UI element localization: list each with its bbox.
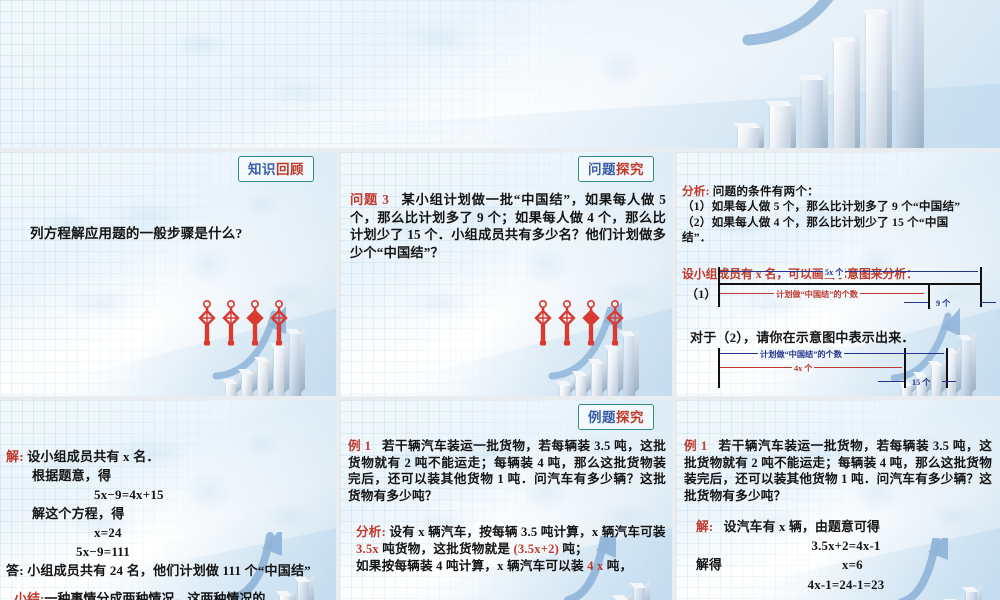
slide2-wedge <box>340 254 672 396</box>
badge-text-red: 回顾 <box>276 162 304 177</box>
solution-line-solve: 解这个方程，得 <box>6 505 332 524</box>
summary-text: 一种事情分成两种情况，这两种情况的 <box>44 591 265 600</box>
answer-text: 小组成员共有 24 名，他们计划做 111 个“中国结” <box>27 563 311 578</box>
solution-line-basis: 根据题意，得 <box>6 467 332 486</box>
problem-text: 某小组计划做一批“中国结”，如果每人做 5 个，那么比计划多了 9 个；如果每人… <box>350 192 666 260</box>
example-analysis: 分析: 设有 x 辆汽车，按每辆 3.5 吨计算，x 辆汽车可装 3.5x 吨货… <box>356 524 668 575</box>
span-short-line <box>878 381 904 382</box>
analysis-block: 分析: 问题的条件有两个： （1）如果每人做 5 个，那么比计划多了 9 个“中… <box>682 184 994 246</box>
solution-lead: 解: <box>696 520 713 534</box>
analysis-highlight-2: (3.5x+2) <box>513 542 559 556</box>
slide-analysis[interactable]: 分析: 问题的条件有两个： （1）如果每人做 5 个，那么比计划多了 9 个“中… <box>676 152 1000 396</box>
tick-left <box>718 267 720 307</box>
span-planned-label: 计划做“中国结”的个数 <box>774 288 860 300</box>
analysis2-part-a: 如果按每辆装 4 吨计算，x 辆汽车可以装 <box>356 559 587 573</box>
span-total-label: 5x 个 <box>823 266 845 278</box>
span-extra-line <box>904 302 928 303</box>
badge-text-blue: 例题 <box>588 410 616 425</box>
problem-lead: 问题 3 <box>350 192 389 207</box>
badge-text-blue: 问题 <box>588 162 616 177</box>
slide-example-analysis[interactable]: 例题探究 例 1 若干辆汽车装运一批货物，若每辆装 3.5 吨，这批货物就有 2… <box>340 400 672 600</box>
span-short-label: 15 个 <box>910 376 932 388</box>
tick-mid <box>928 283 930 309</box>
solution-set-text: 设小组成员共有 x 名． <box>27 449 159 464</box>
solution-set-line: 解: 设汽车有 x 辆，由题意可得 <box>696 518 996 537</box>
badge-knowledge-review: 知识回顾 <box>238 156 314 182</box>
analysis-highlight-1: 3.5x <box>356 542 379 556</box>
example-lead: 例 1 <box>348 439 371 453</box>
example-text: 若干辆汽车装运一批货物，若每辆装 3.5 吨，这批货物就有 2 吨不能运走；每辆… <box>348 439 666 503</box>
analysis2-part-b: 吨， <box>603 559 632 573</box>
solution-answer-line: 答: 小组成员共有 24 名，他们计划做 111 个“中国结” <box>6 562 332 581</box>
analysis-para-1: 分析: 设有 x 辆汽车，按每辆 3.5 吨计算，x 辆汽车可装 3.5x 吨货… <box>356 524 668 558</box>
solution-block: 解: 设小组成员共有 x 名． 根据题意，得 5x−9=4x+15 解这个方程，… <box>6 448 332 581</box>
banner-wedge <box>0 44 1000 148</box>
problem-statement: 问题 3 某小组计划做一批“中国结”，如果每人做 5 个，那么比计划多了 9 个… <box>350 191 666 262</box>
solution-equation: 3.5x+2=4x-1 <box>696 537 996 556</box>
badge-example-explore: 例题探究 <box>578 404 654 430</box>
badge-text-blue: 知识 <box>248 162 276 177</box>
solution-root: x=6 <box>722 558 863 572</box>
analysis-lead: 分析: <box>682 185 710 198</box>
analysis-para-2: 如果按每辆装 4 吨计算，x 辆汽车可以装 4 x 吨， <box>356 558 668 575</box>
span-short-line-right <box>942 381 956 382</box>
span-planned-label: 计划做“中国结”的个数 <box>758 348 844 360</box>
analysis2-highlight: 4 x <box>587 559 603 573</box>
solution-lead: 解: <box>6 449 24 464</box>
solution-count: 5x−9=111 <box>6 543 332 562</box>
example-statement: 例 1 若干辆汽车装运一批货物，若每辆装 3.5 吨，这批货物就有 2 吨不能运… <box>348 438 666 505</box>
analysis-lead: 分析: <box>356 525 386 539</box>
solution-equation: 5x−9=4x+15 <box>6 486 332 505</box>
hline-black <box>718 283 980 285</box>
analysis-part-c: 吨； <box>559 542 588 556</box>
span-4x-label: 4x 个 <box>792 362 814 374</box>
example-solution: 解: 设汽车有 x 辆，由题意可得 3.5x+2=4x-1 解得x=6 4x-1… <box>696 518 996 595</box>
analysis-head-line: 分析: 问题的条件有两个： <box>682 184 994 199</box>
banner-slide-crop <box>0 0 1000 148</box>
review-question: 列方程解应用题的一般步骤是什么? <box>30 224 242 244</box>
analysis-line-3: 结”． <box>682 230 994 245</box>
solution-solve-row: 解得x=6 <box>696 556 996 575</box>
slide-deck-grid: 知识回顾 列方程解应用题的一般步骤是什么? <box>0 0 1000 600</box>
span-extra-line-right <box>980 302 996 303</box>
tick-right <box>980 267 982 307</box>
schematic-diagram-2: 计划做“中国结”的个数 4x 个 15 个 <box>718 348 990 396</box>
slide-problem-explore[interactable]: 问题探究 问题 3 某小组计划做一批“中国结”，如果每人做 5 个，那么比计划多… <box>340 152 672 396</box>
schematic-diagram-1: 5x 个 计划做“中国结”的个数 9 个 <box>718 265 990 323</box>
slide-solution-knots[interactable]: 解: 设小组成员共有 x 名． 根据题意，得 5x−9=4x+15 解这个方程，… <box>0 400 336 600</box>
example-statement: 例 1 若干辆汽车装运一批货物，若每辆装 3.5 吨，这批货物就有 2 吨不能运… <box>684 438 992 505</box>
summary-lead: 小结: <box>14 591 44 600</box>
analysis-part-b: 吨货物，这批货物就是 <box>379 542 514 556</box>
solve-word: 解得 <box>696 558 722 572</box>
slide-knowledge-review[interactable]: 知识回顾 列方程解应用题的一般步骤是什么? <box>0 152 336 396</box>
solution-final: 4x-1=24-1=23 <box>696 576 996 595</box>
solution-line-set: 解: 设小组成员共有 x 名． <box>6 448 332 467</box>
badge-problem-explore: 问题探究 <box>578 156 654 182</box>
analysis-line-2: （2）如果每人做 4 个，那么比计划少了 15 个“中国 <box>682 215 994 230</box>
case-2-instruction: 对于（2），请你在示意图中表示出来． <box>690 327 915 346</box>
analysis-line-1: （1）如果每人做 5 个，那么比计划多了 9 个“中国结” <box>682 199 994 214</box>
slide-example-solution[interactable]: 例 1 若干辆汽车装运一批货物，若每辆装 3.5 吨，这批货物就有 2 吨不能运… <box>676 400 1000 600</box>
analysis-head: 问题的条件有两个： <box>713 185 819 198</box>
case-1-label: （1） <box>686 285 717 302</box>
solution-set-text: 设汽车有 x 辆，由题意可得 <box>724 520 880 534</box>
span-extra-label: 9 个 <box>934 297 952 309</box>
answer-lead: 答: <box>6 563 24 578</box>
analysis-part-a: 设有 x 辆汽车，按每辆 3.5 吨计算，x 辆汽车可装 <box>389 525 665 539</box>
badge-text-red: 探究 <box>616 410 644 425</box>
example-lead: 例 1 <box>684 439 707 453</box>
span-total-line <box>720 271 978 272</box>
badge-text-red: 探究 <box>616 162 644 177</box>
solution-root: x=24 <box>6 524 332 543</box>
slide1-wedge <box>0 254 336 396</box>
summary-line-clipped: 小结:一种事情分成两种情况，这两种情况的 <box>14 588 265 600</box>
example-text: 若干辆汽车装运一批货物，若每辆装 3.5 吨，这批货物就有 2 吨不能运走；每辆… <box>684 439 992 503</box>
